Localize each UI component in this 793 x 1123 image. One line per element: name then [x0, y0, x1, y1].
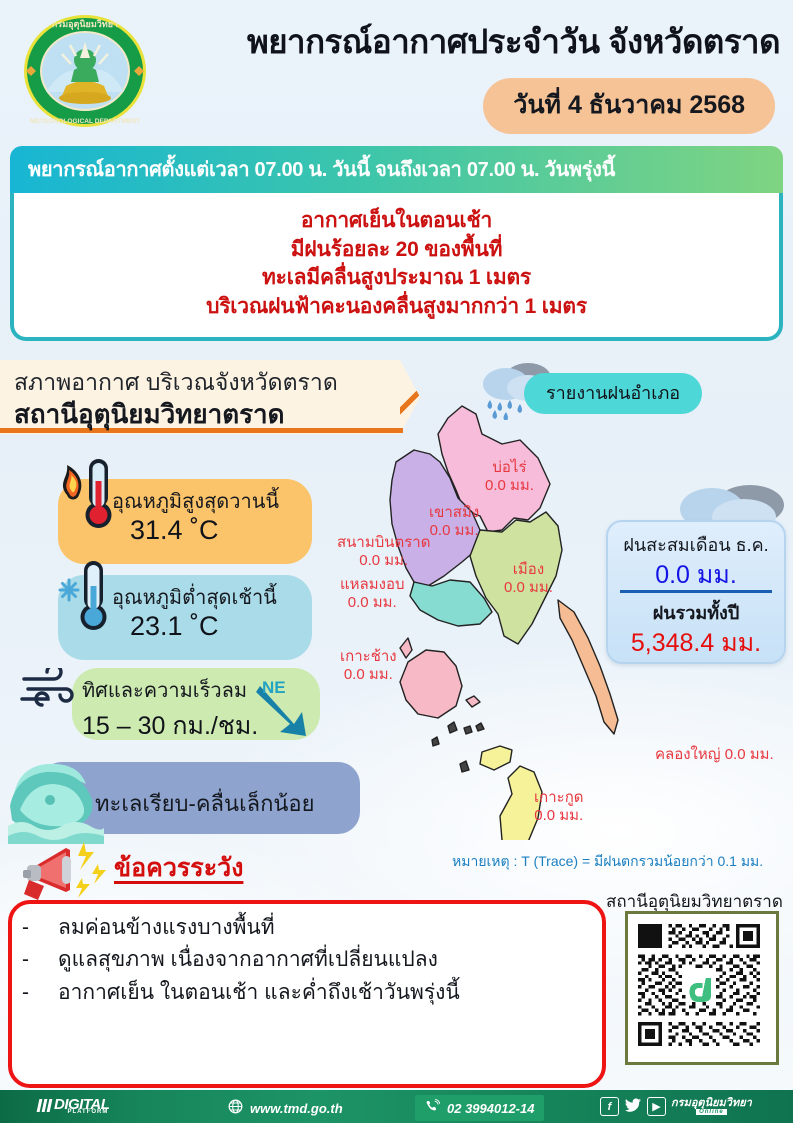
rain-accumulation-box: ฝนสะสมเดือน ธ.ค. 0.0 มม. ฝนรวมทั้งปี 5,3…	[606, 520, 786, 664]
district-value: 0.0 มม.	[340, 594, 405, 612]
warning-list-item: - อากาศเย็น ในตอนเช้า และค่ำถึงเช้าวันพร…	[22, 977, 582, 1009]
district-value: 0.0 มม.	[534, 807, 584, 825]
district-label-borai: บ่อไร่ 0.0 มม.	[485, 459, 534, 496]
district-name: เขาสมิง	[429, 504, 479, 522]
temp-min-label: อุณหภูมิต่ำสุดเช้านี้	[112, 581, 277, 613]
map-note: หมายเหตุ : T (Trace) = มีฝนตกรวมน้อยกว่า…	[452, 851, 763, 873]
district-name: เกาะช้าง	[340, 648, 397, 666]
rain-month-value: 0.0 มม.	[608, 555, 784, 595]
sea-state-label: ทะเลเรียบ-คลื่นเล็กน้อย	[95, 786, 315, 821]
bullet-marker: -	[22, 977, 58, 1009]
district-label-khlongyai: คลองใหญ่ 0.0 มม.	[655, 746, 774, 764]
twitter-icon[interactable]	[624, 1098, 642, 1116]
district-value: 0.0 มม.	[340, 666, 397, 684]
youtube-icon[interactable]: ▶	[647, 1097, 666, 1116]
district-name: แหลมงอบ	[340, 576, 405, 594]
footer-bar: DIGITAL PLATFORM www.tmd.go.th 02 399401…	[0, 1090, 793, 1123]
warning-list-item: - ดูแลสุขภาพ เนื่องจากอากาศที่เปลี่ยนแปล…	[22, 944, 582, 976]
globe-icon	[228, 1099, 243, 1117]
rain-year-value: 5,348.4 มม.	[608, 623, 784, 663]
district-value: 0.0 มม.	[485, 477, 534, 495]
svg-text:กรมอุตุนิยมวิทยา: กรมอุตุนิยมวิทยา	[52, 19, 118, 30]
temp-min-value: 23.1 ˚C	[130, 611, 219, 642]
wind-label: ทิศและความเร็วลม	[82, 674, 247, 706]
wind-direction-label: NE	[262, 678, 286, 698]
date-badge: วันที่ 4 ธันวาคม 2568	[483, 78, 775, 134]
district-label-kohchang: เกาะช้าง 0.0 มม.	[340, 648, 397, 685]
divider	[620, 590, 772, 593]
brand-sublabel: PLATFORM	[68, 1109, 109, 1115]
warning-item-text: ลมค่อนข้างแรงบางพื้นที่	[58, 912, 275, 944]
forecast-line: ทะเลมีคลื่นสูงประมาณ 1 เมตร	[14, 264, 779, 293]
website-label: www.tmd.go.th	[250, 1101, 343, 1116]
qr-code-icon[interactable]	[625, 911, 779, 1065]
wind-direction-arrow-icon	[250, 682, 322, 744]
district-name: เกาะกูด	[534, 789, 584, 807]
temp-max-value: 31.4 ˚C	[130, 515, 219, 546]
district-value: 0.0 มม.	[337, 552, 430, 570]
footer-phone[interactable]: 02 3994012-14	[415, 1095, 544, 1121]
tmd-seal-logo: กรมอุตุนิยมวิทยา METEOROLOGICAL DEPARTME…	[16, 12, 154, 130]
social-sublabel: Online	[696, 1109, 727, 1115]
district-value: 0.0 มม.	[504, 579, 553, 597]
bullet-marker: -	[22, 912, 58, 944]
sea-wave-icon	[6, 750, 106, 844]
cold-thermometer-icon	[55, 556, 117, 636]
district-label-kohkut: เกาะกูด 0.0 มม.	[534, 789, 584, 826]
warning-item-text: ดูแลสุขภาพ เนื่องจากอากาศที่เปลี่ยนแปลง	[58, 944, 438, 976]
forecast-line: บริเวณฝนฟ้าคะนองคลื่นสูงมากกว่า 1 เมตร	[14, 293, 779, 322]
warning-list-item: - ลมค่อนข้างแรงบางพื้นที่	[22, 912, 582, 944]
footer-website[interactable]: www.tmd.go.th	[228, 1099, 343, 1117]
district-label-muang: เมือง 0.0 มม.	[504, 561, 553, 598]
svg-text:METEOROLOGICAL DEPARTMENT: METEOROLOGICAL DEPARTMENT	[30, 118, 140, 125]
forecast-line: มีฝนร้อยละ 20 ของพื้นที่	[14, 236, 779, 265]
digital-platform-brand: DIGITAL PLATFORM	[38, 1096, 109, 1114]
station-banner-line2: สถานีอุตุนิยมวิทยาตราด	[14, 394, 285, 435]
phone-label: 02 3994012-14	[447, 1101, 534, 1116]
district-name: สนามบินตราด	[337, 534, 430, 552]
district-name: บ่อไร่	[485, 459, 534, 477]
forecast-body: อากาศเย็นในตอนเช้า มีฝนร้อยละ 20 ของพื้น…	[10, 193, 783, 341]
district-value: 0.0 มม.	[429, 522, 479, 540]
district-label-trat-airport: สนามบินตราด 0.0 มม.	[337, 534, 430, 571]
facebook-icon[interactable]: f	[600, 1097, 619, 1116]
district-label-laemngop: แหลมงอบ 0.0 มม.	[340, 576, 405, 613]
forecast-panel: พยากรณ์อากาศตั้งแต่เวลา 07.00 น. วันนี้ …	[10, 146, 783, 341]
warning-list: - ลมค่อนข้างแรงบางพื้นที่ - ดูแลสุขภาพ เ…	[22, 912, 582, 1009]
infographic-page: กรมอุตุนิยมวิทยา METEOROLOGICAL DEPARTME…	[0, 0, 793, 1123]
header: กรมอุตุนิยมวิทยา METEOROLOGICAL DEPARTME…	[0, 0, 793, 138]
district-name: คลองใหญ่ 0.0 มม.	[655, 746, 774, 764]
district-label-khaosaming: เขาสมิง 0.0 มม.	[429, 504, 479, 541]
district-name: เมือง	[504, 561, 553, 579]
bars-icon	[38, 1099, 51, 1112]
forecast-period-header: พยากรณ์อากาศตั้งแต่เวลา 07.00 น. วันนี้ …	[10, 146, 783, 193]
temp-max-label: อุณหภูมิสูงสุดวานนี้	[112, 485, 279, 517]
page-title: พยากรณ์อากาศประจำวัน จังหวัดตราด	[170, 22, 780, 62]
phone-icon	[425, 1099, 440, 1117]
bullet-marker: -	[22, 944, 58, 976]
wind-speed-value: 15 – 30 กม./ชม.	[82, 706, 258, 746]
social-label: กรมอุตุนิยมวิทยา	[671, 1098, 752, 1109]
warning-item-text: อากาศเย็น ในตอนเช้า และค่ำถึงเช้าวันพรุ่…	[58, 977, 460, 1009]
forecast-line: อากาศเย็นในตอนเช้า	[14, 207, 779, 236]
footer-social[interactable]: f ▶ กรมอุตุนิยมวิทยา Online	[600, 1097, 752, 1116]
warning-heading: ข้อควรระวัง	[114, 848, 243, 888]
wind-icon	[18, 668, 80, 710]
